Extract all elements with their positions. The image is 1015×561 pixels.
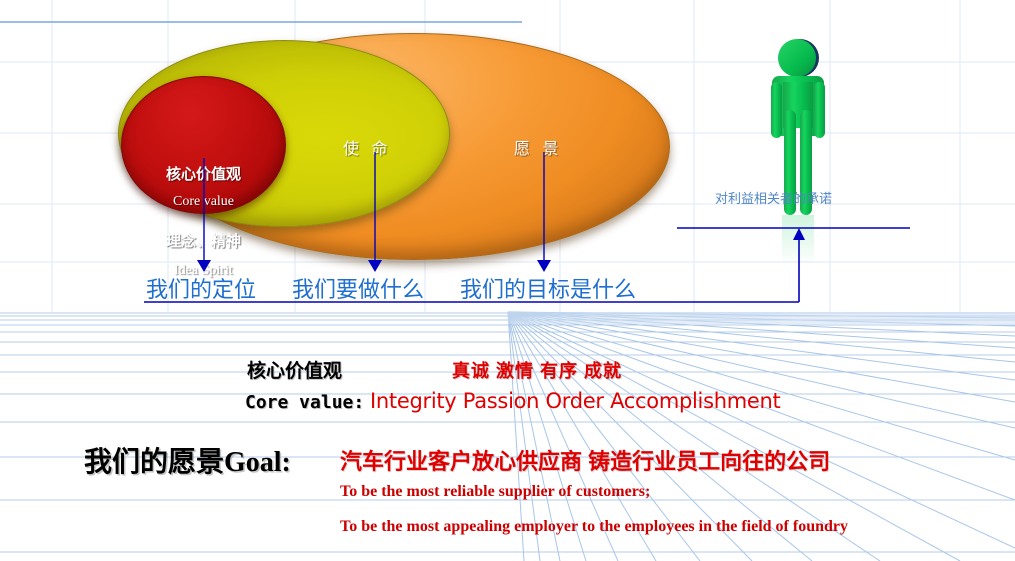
bottom-core-values-cn: 真诚 激情 有序 成就 [452, 357, 622, 383]
bottom-goal-label: 我们的愿景Goal: [84, 440, 291, 480]
slide-canvas: 核心价值观 Core value 理念、精神 Idea Spirit 使 命 愿… [0, 0, 1015, 561]
bottom-core-values-en: Integrity Passion Order Accomplishment [370, 389, 780, 413]
core-value-ellipse: 核心价值观 Core value 理念、精神 Idea Spirit [121, 76, 286, 214]
question-dowhat: 我们要做什么 [292, 272, 424, 304]
core-value-title-en: Core value [122, 194, 285, 210]
core-value-title-cn: 核心价值观 [122, 163, 285, 184]
core-value-sub-cn: 理念、精神 [122, 230, 285, 251]
bottom-goal-en-line2: To be the most appealing employer to the… [340, 518, 848, 536]
stakeholder-commitment-label: 对利益相关者的承诺 [715, 188, 832, 207]
bottom-core-value-en-label: Core value: [245, 392, 364, 413]
question-position: 我们的定位 [146, 272, 256, 304]
mission-label: 使 命 [343, 135, 391, 159]
bottom-goal-en-line1: To be the most reliable supplier of cust… [340, 483, 650, 501]
bottom-core-value-cn: 核心价值观 [247, 356, 342, 383]
bottom-goal-cn: 汽车行业客户放心供应商 铸造行业员工向往的公司 [340, 444, 830, 476]
vision-label: 愿 景 [514, 135, 562, 159]
question-goal: 我们的目标是什么 [460, 272, 636, 304]
